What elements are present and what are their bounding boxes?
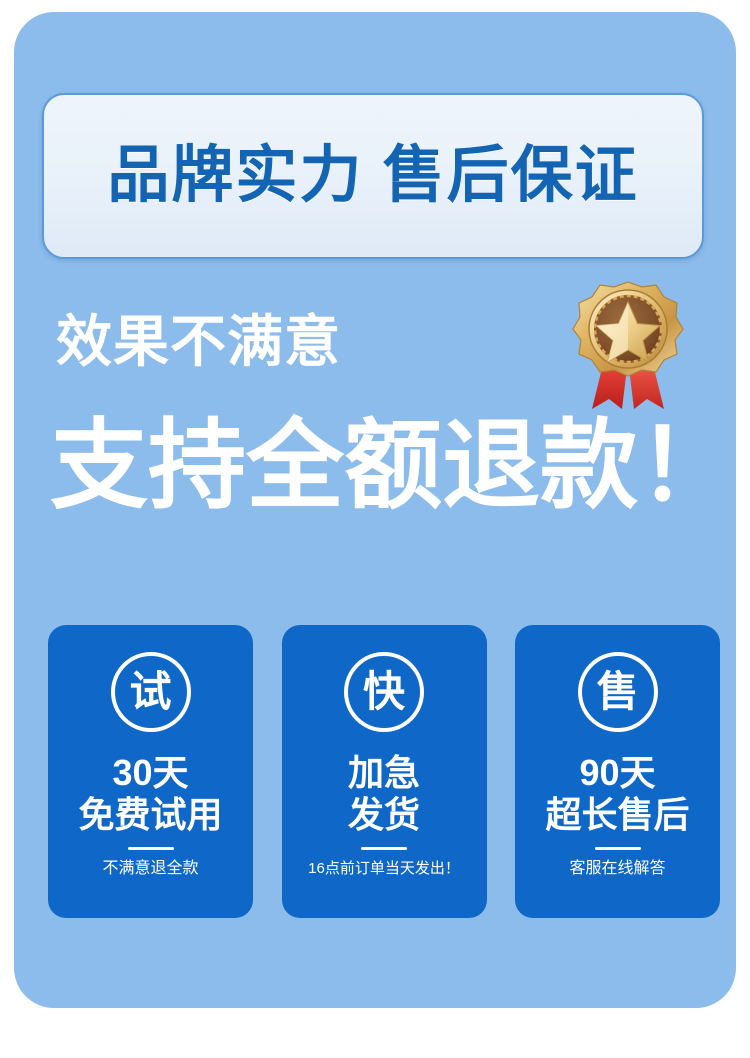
aftersales-divider xyxy=(595,847,641,850)
trial-line1: 30天 xyxy=(112,754,188,793)
gold-medal-star-icon xyxy=(565,276,691,416)
feature-card-aftersales[interactable]: 售 90天 超长售后 客服在线解答 xyxy=(515,625,720,918)
promo-poster: 品牌实力 售后保证 效果不满意 支持全额退款！ xyxy=(14,12,736,1008)
aftersales-note: 客服在线解答 xyxy=(569,861,665,877)
trial-circle-icon: 试 xyxy=(111,652,191,732)
shipping-circle-icon: 快 xyxy=(344,652,424,732)
shipping-line2: 发货 xyxy=(348,796,420,835)
aftersales-line1: 90天 xyxy=(579,754,655,793)
shipping-circle-glyph: 快 xyxy=(363,671,405,713)
headline-subtitle: 效果不满意 xyxy=(56,314,341,370)
feature-card-trial[interactable]: 试 30天 免费试用 不满意退全款 xyxy=(48,625,253,918)
trial-line2: 免费试用 xyxy=(78,796,222,835)
shipping-divider xyxy=(361,847,407,850)
headline-main: 支持全额退款！ xyxy=(50,416,736,514)
shipping-note: 16点前订单当天发出！ xyxy=(308,861,460,876)
aftersales-circle-icon: 售 xyxy=(578,652,658,732)
aftersales-line2: 超长售后 xyxy=(545,796,689,835)
trial-circle-glyph: 试 xyxy=(129,671,171,713)
feature-card-shipping[interactable]: 快 加急 发货 16点前订单当天发出！ xyxy=(282,625,487,918)
header-banner: 品牌实力 售后保证 xyxy=(42,93,704,259)
trial-divider xyxy=(128,847,174,850)
trial-note: 不满意退全款 xyxy=(102,861,198,877)
header-title: 品牌实力 售后保证 xyxy=(107,145,638,207)
shipping-line1: 加急 xyxy=(348,754,420,793)
aftersales-circle-glyph: 售 xyxy=(596,671,638,713)
feature-card-list: 试 30天 免费试用 不满意退全款 快 加急 发货 16点前订单当天发出！ 售 … xyxy=(48,625,720,918)
